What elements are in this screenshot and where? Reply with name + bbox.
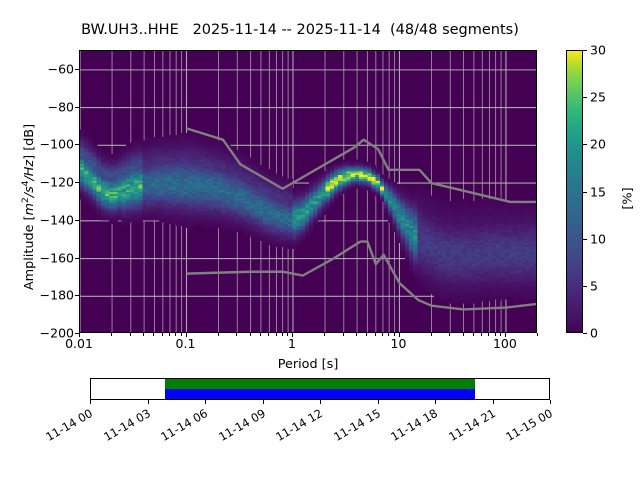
- colorbar-tick-label: 15: [590, 184, 606, 199]
- colorbar-tick-mark: [583, 50, 587, 51]
- timeline-tick-label: 11-14 03: [101, 406, 153, 444]
- y-tick-mark: [75, 258, 79, 259]
- x-minor-tick-mark: [488, 333, 489, 336]
- x-tick-label: 0.1: [176, 336, 196, 351]
- x-minor-tick-mark: [236, 333, 237, 336]
- x-minor-tick-mark: [181, 333, 182, 336]
- timeline-tick-mark: [148, 400, 149, 404]
- x-minor-tick-mark: [500, 333, 501, 336]
- timeline-tick-label: 11-14 06: [158, 406, 210, 444]
- y-tick-label: −160: [40, 250, 74, 265]
- colorbar-tick-mark: [583, 286, 587, 287]
- x-minor-tick-mark: [218, 333, 219, 336]
- x-minor-tick-mark: [287, 333, 288, 336]
- colorbar-tick-label: 5: [590, 278, 598, 293]
- y-tick-label: −100: [40, 137, 74, 152]
- colorbar[interactable]: [566, 50, 583, 333]
- timeline-tick-mark: [550, 400, 551, 404]
- colorbar-tick-label: 25: [590, 90, 606, 105]
- x-minor-tick-mark: [143, 333, 144, 336]
- y-tick-mark: [75, 69, 79, 70]
- timeline-tick-label: 11-14 12: [273, 406, 325, 444]
- colorbar-tick-mark: [583, 192, 587, 193]
- x-minor-tick-mark: [356, 333, 357, 336]
- x-minor-tick-mark: [175, 333, 176, 336]
- x-minor-tick-mark: [449, 333, 450, 336]
- y-tick-label: −80: [48, 99, 74, 114]
- y-tick-mark: [75, 144, 79, 145]
- x-minor-tick-mark: [250, 333, 251, 336]
- data-coverage-green: [165, 379, 475, 389]
- x-tick-label: 100: [493, 336, 517, 351]
- timeline-tick-mark: [205, 400, 206, 404]
- x-minor-tick-mark: [463, 333, 464, 336]
- colorbar-tick-mark: [583, 144, 587, 145]
- x-minor-tick-mark: [130, 333, 131, 336]
- y-tick-mark: [75, 182, 79, 183]
- y-tick-label: −140: [40, 212, 74, 227]
- ppsd-canvas: [80, 51, 537, 333]
- page-title: BW.UH3..HHE 2025-11-14 -- 2025-11-14 (48…: [0, 22, 600, 38]
- x-minor-tick-mark: [343, 333, 344, 336]
- psd-coverage-blue: [165, 389, 475, 399]
- colorbar-tick-mark: [583, 97, 587, 98]
- x-minor-tick-mark: [366, 333, 367, 336]
- x-minor-tick-mark: [169, 333, 170, 336]
- y-tick-label: −180: [40, 288, 74, 303]
- y-tick-mark: [75, 220, 79, 221]
- timeline-tick-label: 11-14 00: [43, 406, 95, 444]
- y-tick-mark: [75, 295, 79, 296]
- x-minor-tick-mark: [260, 333, 261, 336]
- timeline-tick-label: 11-14 09: [216, 406, 268, 444]
- psd-histogram: [80, 129, 537, 303]
- x-minor-tick-mark: [495, 333, 496, 336]
- colorbar-tick-label: 20: [590, 137, 606, 152]
- colorbar-tick-mark: [583, 333, 587, 334]
- colorbar-tick-mark: [583, 239, 587, 240]
- x-minor-tick-mark: [537, 333, 538, 336]
- y-tick-label: −120: [40, 175, 74, 190]
- x-minor-tick-mark: [111, 333, 112, 336]
- timeline-tick-mark: [263, 400, 264, 404]
- colorbar-tick-label: 10: [590, 231, 606, 246]
- colorbar-tick-label: 30: [590, 43, 606, 58]
- timeline-tick-label: 11-14 21: [446, 406, 498, 444]
- x-minor-tick-mark: [481, 333, 482, 336]
- x-minor-tick-mark: [382, 333, 383, 336]
- colorbar-label: [%]: [621, 149, 636, 249]
- x-minor-tick-mark: [153, 333, 154, 336]
- y-tick-mark: [75, 107, 79, 108]
- ppsd-plot-area[interactable]: [79, 50, 537, 333]
- timeline-tick-mark: [435, 400, 436, 404]
- timeline-tick-label: 11-15 00: [503, 406, 555, 444]
- x-minor-tick-mark: [324, 333, 325, 336]
- x-axis-label: Period [s]: [79, 357, 537, 372]
- x-minor-tick-mark: [282, 333, 283, 336]
- x-minor-tick-mark: [473, 333, 474, 336]
- x-minor-tick-mark: [268, 333, 269, 336]
- x-tick-label: 1: [288, 336, 296, 351]
- x-tick-label: 0.01: [65, 336, 93, 351]
- x-minor-tick-mark: [375, 333, 376, 336]
- x-minor-tick-mark: [276, 333, 277, 336]
- timeline-tick-label: 11-14 18: [388, 406, 440, 444]
- x-minor-tick-mark: [162, 333, 163, 336]
- x-minor-tick-mark: [388, 333, 389, 336]
- y-tick-label: −60: [48, 61, 74, 76]
- colorbar-tick-label: 0: [590, 326, 598, 341]
- x-minor-tick-mark: [431, 333, 432, 336]
- timeline-tick-mark: [378, 400, 379, 404]
- timeline-tick-label: 11-14 15: [331, 406, 383, 444]
- timeline-coverage-bar[interactable]: [90, 378, 550, 400]
- timeline-tick-mark: [320, 400, 321, 404]
- x-tick-label: 10: [391, 336, 407, 351]
- timeline-tick-mark: [493, 400, 494, 404]
- x-minor-tick-mark: [394, 333, 395, 336]
- timeline-tick-mark: [90, 400, 91, 404]
